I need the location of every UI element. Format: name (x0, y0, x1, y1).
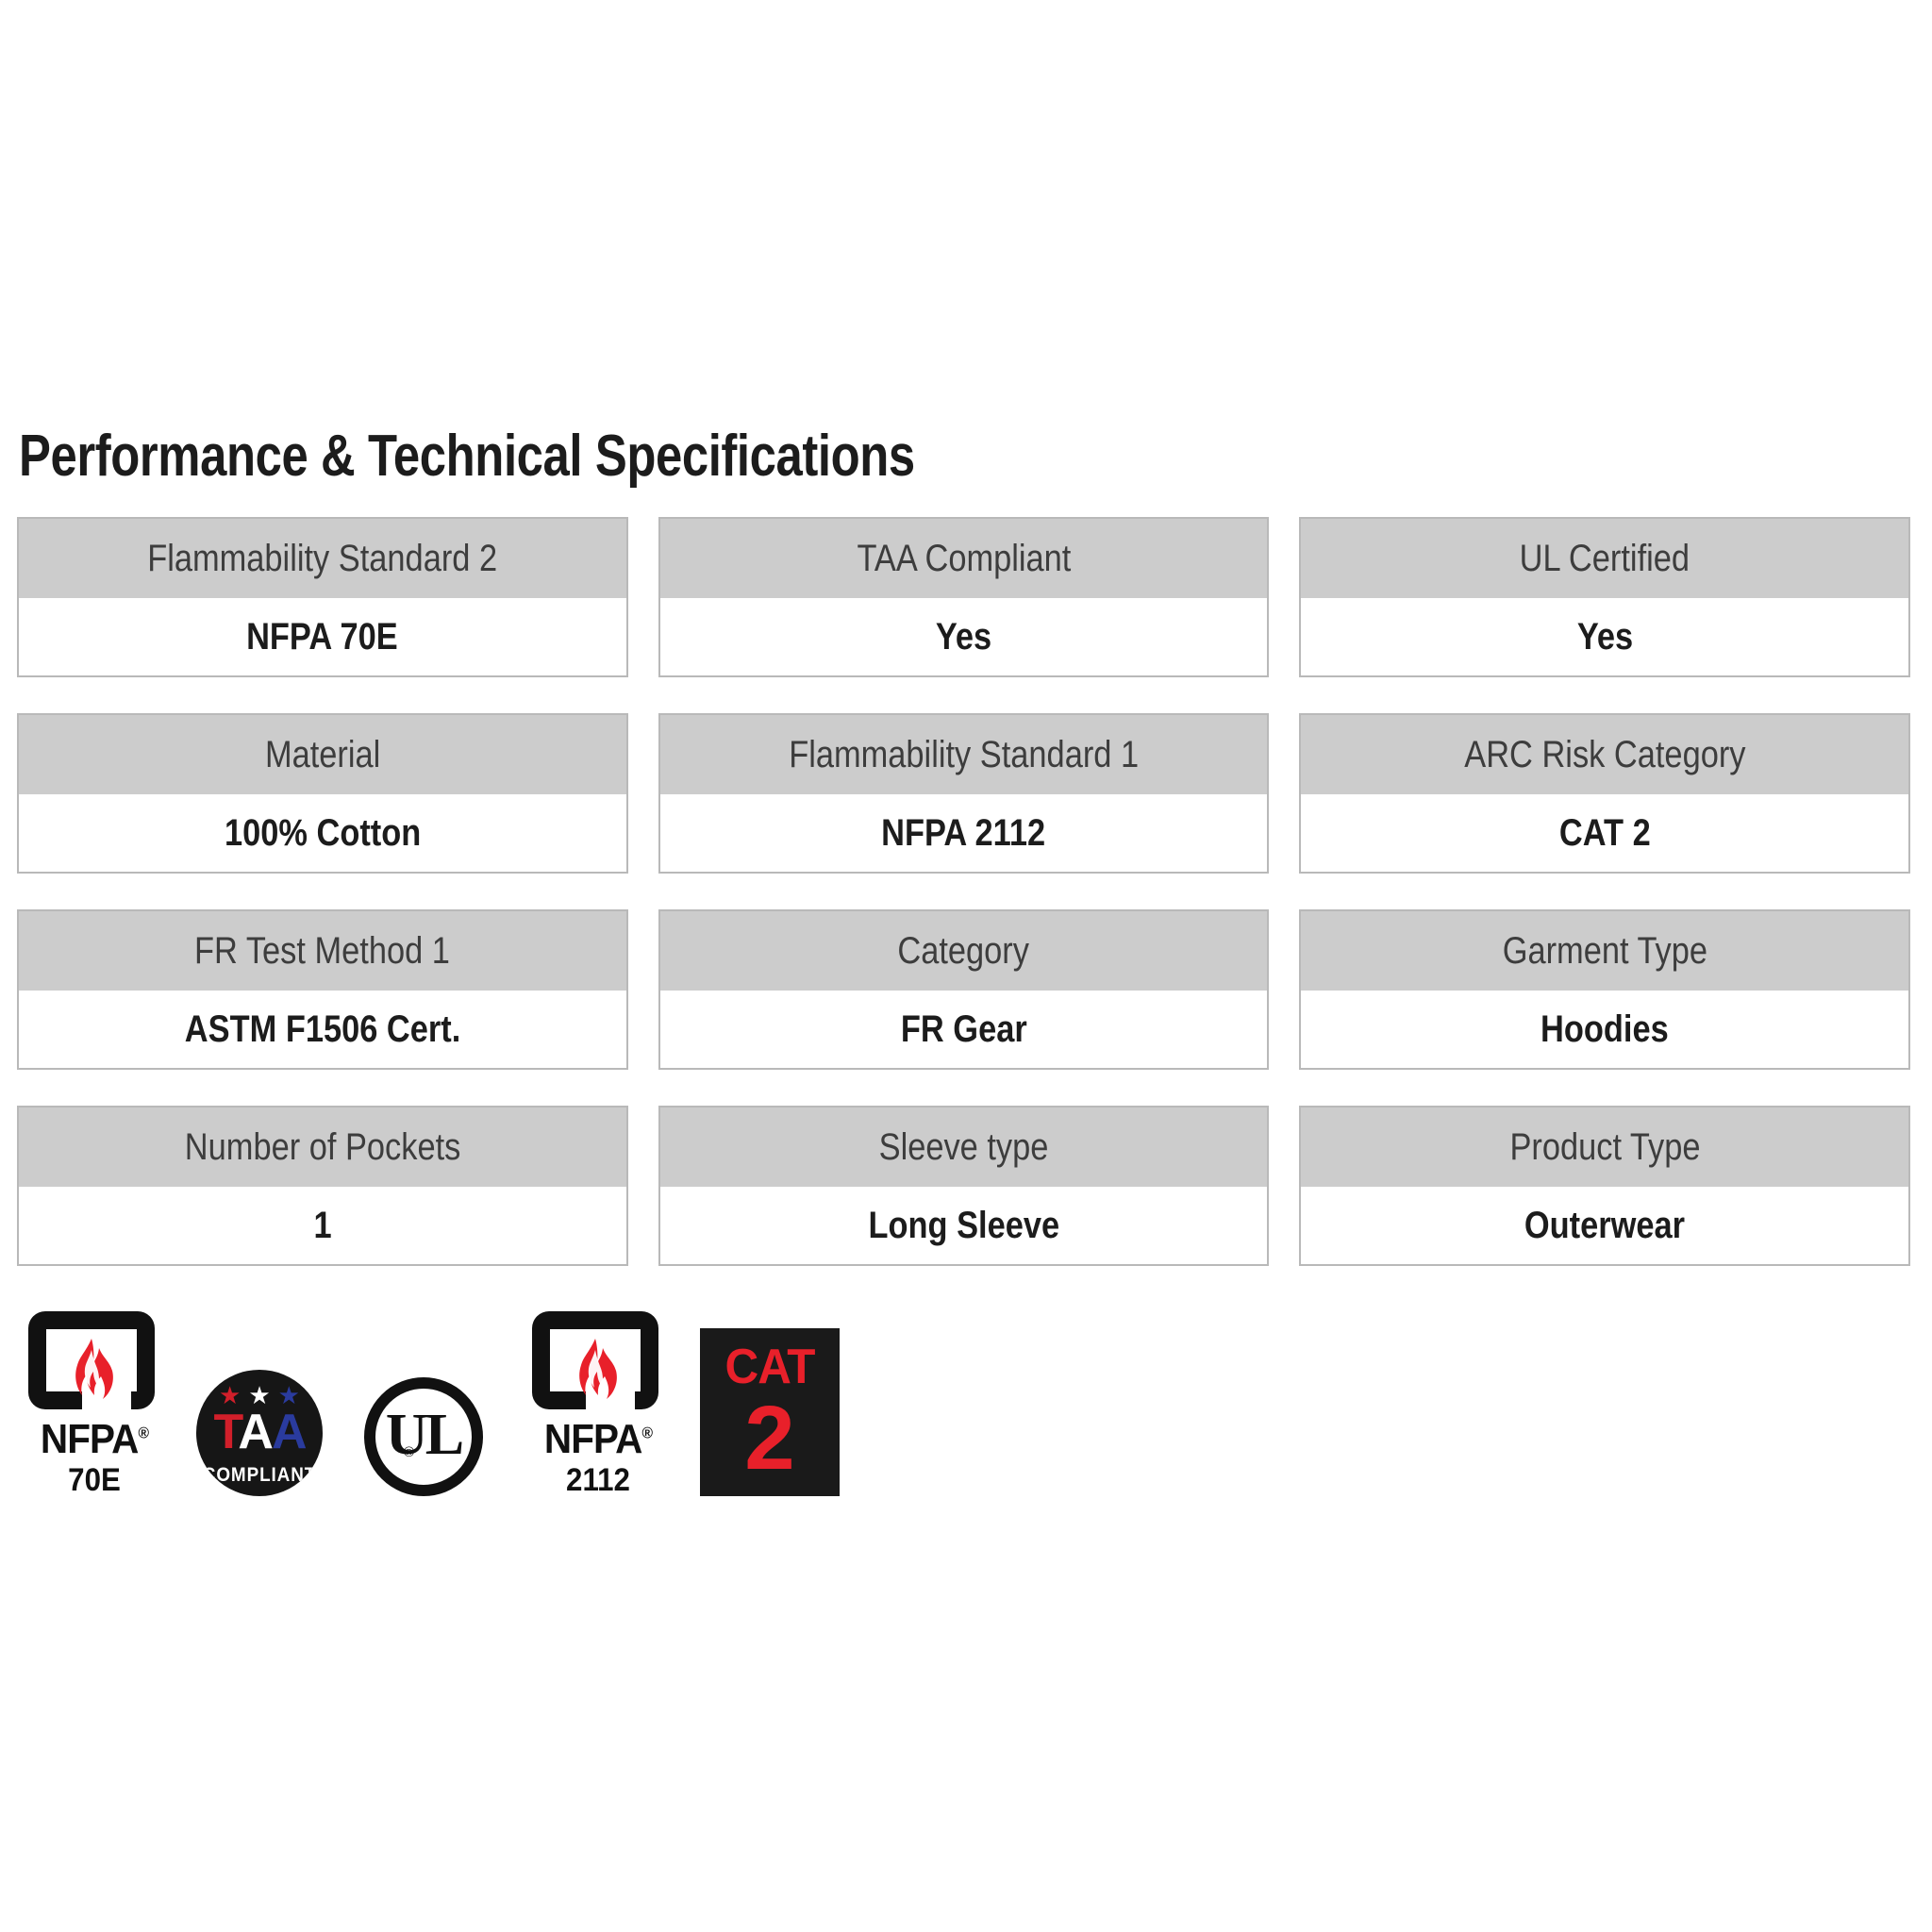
spec-card-header: Number of Pockets (19, 1108, 626, 1187)
spec-value: 100% Cotton (225, 814, 421, 852)
spec-label: UL Certified (1520, 540, 1690, 577)
spec-label: ARC Risk Category (1464, 736, 1745, 774)
flame-svg (569, 1337, 622, 1416)
spec-label: Number of Pockets (185, 1128, 461, 1166)
spec-value: NFPA 2112 (881, 814, 1045, 852)
spec-card-body: Hoodies (1301, 991, 1908, 1068)
cat-number: 2 (744, 1395, 794, 1481)
spec-card-fr-test-method-1: FR Test Method 1 ASTM F1506 Cert. (17, 909, 628, 1070)
cat-word: CAT (724, 1342, 814, 1391)
nfpa-standard-number: 70E (34, 1464, 156, 1496)
spec-card-body: Yes (660, 598, 1268, 675)
spec-card-header: UL Certified (1301, 519, 1908, 598)
taa-letter-a2: A (272, 1405, 306, 1459)
spec-value: 1 (313, 1207, 331, 1244)
spec-value: Hoodies (1541, 1010, 1669, 1048)
registered-mark-icon: ® (138, 1424, 148, 1441)
spec-card-header: Category (660, 911, 1268, 991)
spec-card-arc-risk-category: ARC Risk Category CAT 2 (1299, 713, 1910, 874)
page-title: Performance & Technical Specifications (19, 425, 915, 489)
nfpa-wordmark: NFPA® (538, 1419, 659, 1460)
spec-value: Yes (1576, 618, 1632, 656)
spec-card-body: ASTM F1506 Cert. (19, 991, 626, 1068)
spec-card-flammability-standard-2: Flammability Standard 2 NFPA 70E (17, 517, 628, 677)
spec-card-header: Flammability Standard 2 (19, 519, 626, 598)
nfpa-2112-badge: NFPA® 2112 (532, 1311, 664, 1496)
spec-card-taa-compliant: TAA Compliant Yes (658, 517, 1270, 677)
taa-letter-t: T (213, 1405, 238, 1459)
spec-label: Material (265, 736, 380, 774)
spec-card-product-type: Product Type Outerwear (1299, 1106, 1910, 1266)
spec-card-body: FR Gear (660, 991, 1268, 1068)
registered-mark-icon: ® (641, 1424, 652, 1441)
spec-value: Outerwear (1524, 1207, 1685, 1244)
spec-card-garment-type: Garment Type Hoodies (1299, 909, 1910, 1070)
spec-card-body: Yes (1301, 598, 1908, 675)
nfpa-70e-badge: NFPA® 70E (28, 1311, 160, 1496)
spec-value: CAT 2 (1559, 814, 1651, 852)
flame-glyph (65, 1337, 118, 1421)
spec-label: Product Type (1509, 1128, 1700, 1166)
flame-svg (65, 1337, 118, 1416)
spec-label: Sleeve type (879, 1128, 1049, 1166)
spec-card-body: CAT 2 (1301, 794, 1908, 872)
spec-card-body: NFPA 70E (19, 598, 626, 675)
taa-compliant-icon: ★★★ TAA COMPLIANT (196, 1370, 323, 1496)
spec-label: TAA Compliant (857, 540, 1071, 577)
spec-card-header: ARC Risk Category (1301, 715, 1908, 794)
spec-card-body: Outerwear (1301, 1187, 1908, 1264)
spec-label: Garment Type (1502, 932, 1707, 970)
spec-label: Flammability Standard 1 (789, 736, 1139, 774)
cat2-badge: CAT 2 (700, 1328, 840, 1496)
taa-compliant-badge: ★★★ TAA COMPLIANT (196, 1370, 328, 1496)
spec-card-header: Product Type (1301, 1108, 1908, 1187)
spec-card-header: Sleeve type (660, 1108, 1268, 1187)
spec-value: Yes (936, 618, 991, 656)
spec-value: ASTM F1506 Cert. (185, 1010, 460, 1048)
spec-card-header: FR Test Method 1 (19, 911, 626, 991)
ul-certified-badge: UL ® (364, 1377, 496, 1496)
spec-card-body: NFPA 2112 (660, 794, 1268, 872)
spec-value: FR Gear (901, 1010, 1027, 1048)
spec-card-ul-certified: UL Certified Yes (1299, 517, 1910, 677)
certification-badges: NFPA® 70E ★★★ TAA COMPLIANT UL ® (28, 1311, 840, 1496)
nfpa-flame-icon (532, 1311, 658, 1409)
taa-letter-a1: A (238, 1405, 272, 1459)
spec-card-sleeve-type: Sleeve type Long Sleeve (658, 1106, 1270, 1266)
spec-card-flammability-standard-1: Flammability Standard 1 NFPA 2112 (658, 713, 1270, 874)
spec-card-body: 1 (19, 1187, 626, 1264)
taa-caption: COMPLIANT (203, 1464, 317, 1487)
specifications-grid: Flammability Standard 2 NFPA 70E TAA Com… (17, 517, 1910, 1266)
spec-card-header: Material (19, 715, 626, 794)
spec-card-header: Garment Type (1301, 911, 1908, 991)
nfpa-wordmark: NFPA® (34, 1419, 156, 1460)
nfpa-standard-number: 2112 (538, 1464, 659, 1496)
spec-card-body: 100% Cotton (19, 794, 626, 872)
spec-card-body: Long Sleeve (660, 1187, 1268, 1264)
spec-sheet-page: Performance & Technical Specifications F… (0, 0, 1932, 1932)
spec-label: Flammability Standard 2 (147, 540, 497, 577)
taa-letters: TAA (196, 1407, 323, 1457)
spec-label: Category (898, 932, 1030, 970)
spec-label: FR Test Method 1 (194, 932, 450, 970)
spec-card-header: TAA Compliant (660, 519, 1268, 598)
nfpa-flame-icon (28, 1311, 155, 1409)
spec-value: Long Sleeve (868, 1207, 1059, 1244)
spec-card-category: Category FR Gear (658, 909, 1270, 1070)
spec-value: NFPA 70E (247, 618, 399, 656)
ul-letters: UL (386, 1406, 461, 1464)
spec-card-material: Material 100% Cotton (17, 713, 628, 874)
flame-glyph (569, 1337, 622, 1421)
spec-card-number-of-pockets: Number of Pockets 1 (17, 1106, 628, 1266)
ul-mark-icon: UL ® (364, 1377, 483, 1496)
registered-mark-icon: ® (404, 1444, 414, 1460)
spec-card-header: Flammability Standard 1 (660, 715, 1268, 794)
